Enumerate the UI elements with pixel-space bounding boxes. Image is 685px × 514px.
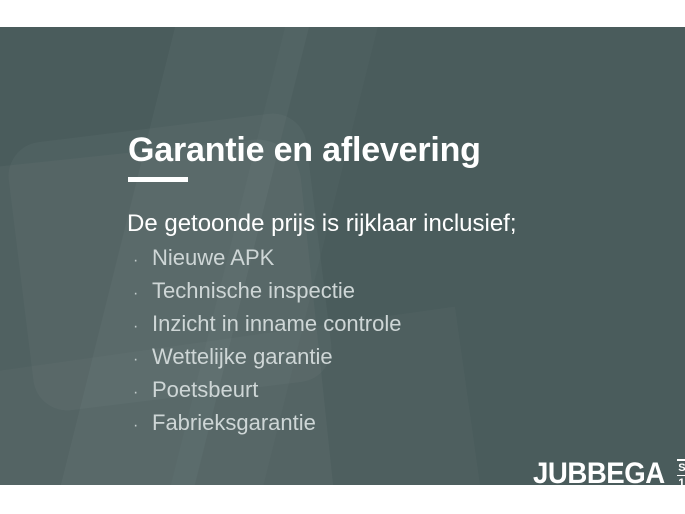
logo-wordmark: JUBBEGA xyxy=(533,457,665,485)
bullet-dot-icon: · xyxy=(127,244,152,277)
list-item: · Technische inspectie xyxy=(127,274,401,307)
logo-since-label: SINDS xyxy=(677,461,685,475)
slide-page: Garantie en aflevering De getoonde prijs… xyxy=(0,0,685,514)
list-item-label: Nieuwe APK xyxy=(152,241,274,274)
list-item-label: Poetsbeurt xyxy=(152,373,258,406)
jubbega-logo: JUBBEGA SINDS 1924 xyxy=(533,457,685,485)
list-item-label: Technische inspectie xyxy=(152,274,355,307)
bullet-list: · Nieuwe APK · Technische inspectie · In… xyxy=(127,241,401,439)
slide-canvas: Garantie en aflevering De getoonde prijs… xyxy=(0,27,685,485)
list-item: · Wettelijke garantie xyxy=(127,340,401,373)
bullet-dot-icon: · xyxy=(127,343,152,376)
list-item: · Fabrieksgarantie xyxy=(127,406,401,439)
list-item-label: Fabrieksgarantie xyxy=(152,406,316,439)
bullet-dot-icon: · xyxy=(127,376,152,409)
bullet-dot-icon: · xyxy=(127,277,152,310)
bullet-dot-icon: · xyxy=(127,409,152,442)
logo-since-year: 1924 xyxy=(677,476,685,485)
list-item: · Poetsbeurt xyxy=(127,373,401,406)
list-item: · Nieuwe APK xyxy=(127,241,401,274)
logo-since-badge: SINDS 1924 xyxy=(677,459,685,485)
list-item: · Inzicht in inname controle xyxy=(127,307,401,340)
list-item-label: Wettelijke garantie xyxy=(152,340,333,373)
slide-title: Garantie en aflevering xyxy=(128,131,481,169)
list-item-label: Inzicht in inname controle xyxy=(152,307,401,340)
slide-lead-text: De getoonde prijs is rijklaar inclusief; xyxy=(127,209,517,239)
bullet-dot-icon: · xyxy=(127,310,152,343)
title-underline-rule xyxy=(128,177,188,182)
